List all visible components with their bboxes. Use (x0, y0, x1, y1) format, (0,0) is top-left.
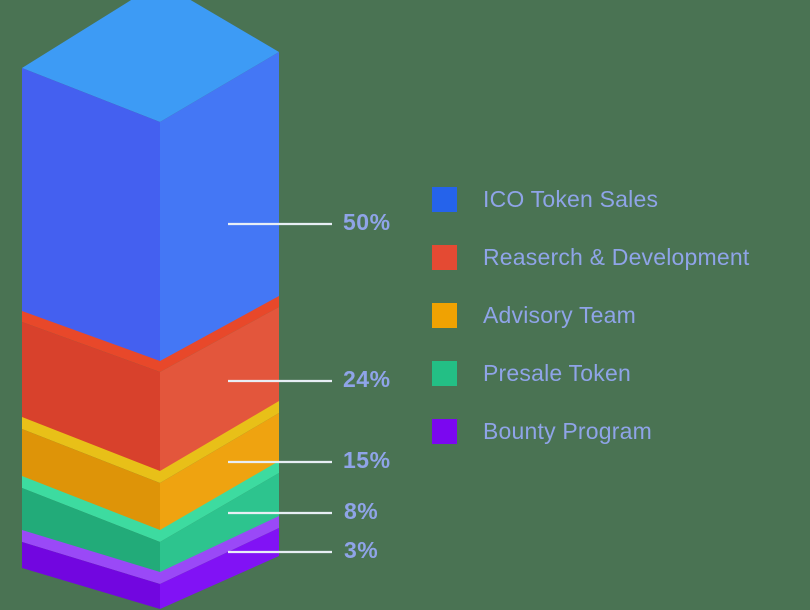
legend-swatch-bounty-program (432, 419, 457, 444)
value-label-ico-token-sales: 50% (343, 211, 391, 234)
value-label-reaserch-development: 24% (343, 368, 391, 391)
legend-swatch-ico-token-sales (432, 187, 457, 212)
legend-swatch-presale-token (432, 361, 457, 386)
legend-item-ico-token-sales[interactable]: ICO Token Sales (432, 170, 802, 228)
legend-label-ico-token-sales: ICO Token Sales (483, 188, 658, 211)
legend-label-reaserch-development: Reaserch & Development (483, 246, 749, 269)
legend-label-advisory-team: Advisory Team (483, 304, 636, 327)
value-label-bounty-program: 3% (344, 539, 378, 562)
legend-item-bounty-program[interactable]: Bounty Program (432, 402, 802, 460)
legend-item-presale-token[interactable]: Presale Token (432, 344, 802, 402)
chart-legend: ICO Token Sales Reaserch & Development A… (432, 170, 802, 460)
chart-canvas: 50% 24% 15% 8% 3% ICO Token Sales Reaser… (0, 0, 810, 610)
legend-swatch-reaserch-development (432, 245, 457, 270)
segment-ico-token-sales[interactable] (22, 0, 279, 368)
legend-label-bounty-program: Bounty Program (483, 420, 652, 443)
legend-label-presale-token: Presale Token (483, 362, 631, 385)
value-label-presale-token: 8% (344, 500, 378, 523)
legend-item-advisory-team[interactable]: Advisory Team (432, 286, 802, 344)
legend-item-reaserch-development[interactable]: Reaserch & Development (432, 228, 802, 286)
value-label-advisory-team: 15% (343, 449, 391, 472)
legend-swatch-advisory-team (432, 303, 457, 328)
